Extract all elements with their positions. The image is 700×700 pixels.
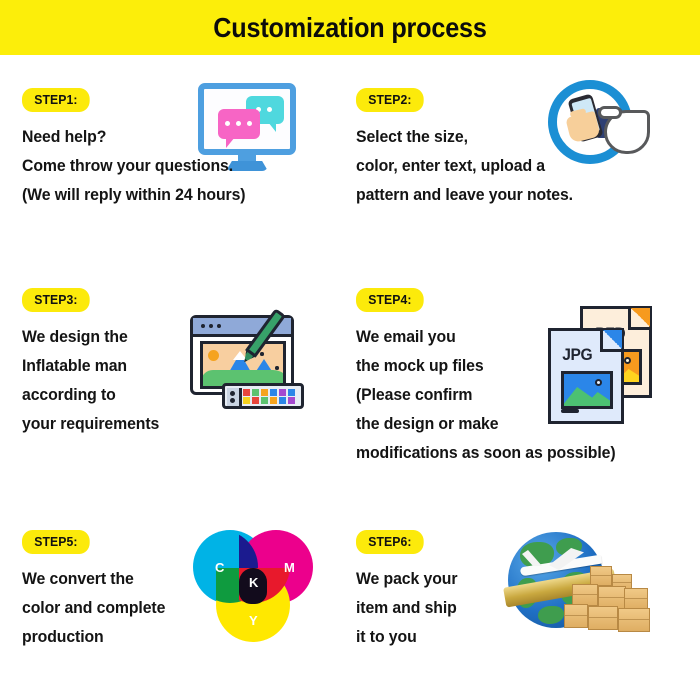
step-text-3: We design the Inflatable man according t… xyxy=(22,322,375,438)
step-card-3: STEP3: We design the Inflatable man acco… xyxy=(0,288,350,438)
step-text-line: your requirements xyxy=(22,409,375,438)
step-badge-6: STEP6: xyxy=(356,530,424,554)
step-badge-3: STEP3: xyxy=(22,288,90,312)
step-text-line: the design or make xyxy=(356,409,700,438)
step-card-6: STEP6: We pack your item and ship it to … xyxy=(340,530,690,651)
step-text-line: according to xyxy=(22,380,375,409)
step-badge-1: STEP1: xyxy=(22,88,90,112)
step-text-line: color and complete xyxy=(22,593,375,622)
step-badge-5: STEP5: xyxy=(22,530,90,554)
step-text-line: Need help? xyxy=(22,122,375,151)
step-text-line: (We will reply within 24 hours) xyxy=(22,180,375,209)
pointing-finger xyxy=(598,106,622,119)
infographic-page: Customization process STEP1: Need help? … xyxy=(0,0,700,700)
step-text-2: Select the size, color, enter text, uplo… xyxy=(356,122,700,209)
step-text-line: item and ship xyxy=(356,593,700,622)
step-card-2: STEP2: Select the size, color, enter tex… xyxy=(340,88,690,209)
step-card-5: STEP5: We convert the color and complete… xyxy=(0,530,350,651)
step-text-line: Come throw your questions. xyxy=(22,151,375,180)
step-text-line: Select the size, xyxy=(356,122,700,151)
step-text-line: modifications as soon as possible) xyxy=(356,438,700,467)
step-text-line: We convert the xyxy=(22,564,375,593)
step-text-6: We pack your item and ship it to you xyxy=(356,564,700,651)
step-text-line: We design the xyxy=(22,322,375,351)
step-text-line: Inflatable man xyxy=(22,351,375,380)
step-text-line: (Please confirm xyxy=(356,380,700,409)
step-text-line: it to you xyxy=(356,622,700,651)
step-text-line: We email you xyxy=(356,322,700,351)
step-text-line: color, enter text, upload a xyxy=(356,151,700,180)
step-text-5: We convert the color and complete produc… xyxy=(22,564,375,651)
steps-grid: STEP1: Need help? Come throw your questi… xyxy=(0,55,700,700)
step-card-4: STEP4: We email you the mock up files (P… xyxy=(340,288,690,467)
page-title: Customization process xyxy=(35,0,665,55)
step-text-1: Need help? Come throw your questions. (W… xyxy=(22,122,375,209)
step-text-line: We pack your xyxy=(356,564,700,593)
step-text-line: the mock up files xyxy=(356,351,700,380)
step-text-line: pattern and leave your notes. xyxy=(356,180,700,209)
step-badge-4: STEP4: xyxy=(356,288,424,312)
step-card-1: STEP1: Need help? Come throw your questi… xyxy=(0,88,350,209)
step-badge-2: STEP2: xyxy=(356,88,424,112)
step-text-line: production xyxy=(22,622,375,651)
step-text-4: We email you the mock up files (Please c… xyxy=(356,322,700,467)
